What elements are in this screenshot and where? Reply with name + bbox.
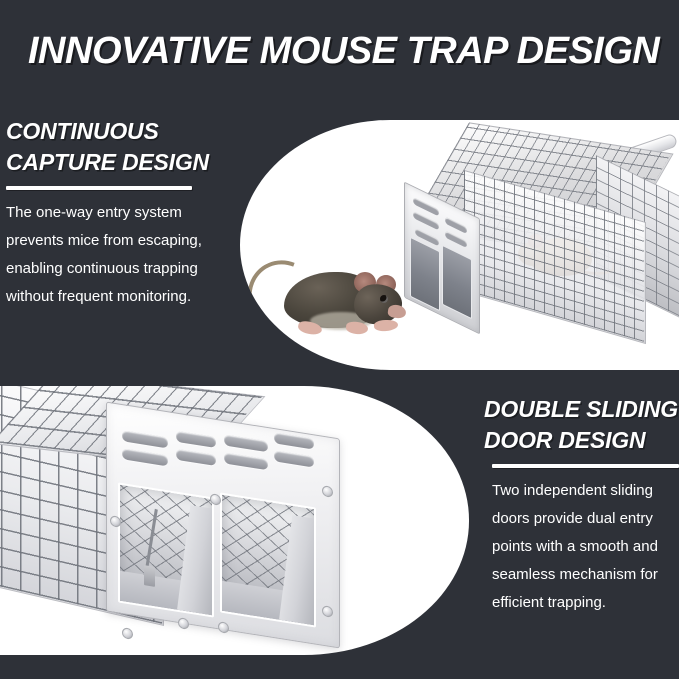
vent-slot-icon — [176, 449, 216, 466]
heading-line-1: CONTINUOUS — [6, 116, 238, 147]
mouse-eye — [380, 295, 388, 303]
trigger-tab — [144, 565, 155, 587]
cage-front-closeup-image — [0, 390, 412, 655]
heading-divider — [492, 464, 679, 468]
infographic-root: INNOVATIVE MOUSE TRAP DESIGN — [0, 0, 679, 679]
section-double-sliding-door: DOUBLE SLIDING DOOR DESIGN Two independe… — [484, 394, 679, 617]
section-body-text: The one-way entry system prevents mice f… — [6, 199, 238, 311]
vent-slot-icon — [274, 450, 314, 467]
vent-slot-icon — [176, 431, 216, 448]
vent-slot-icon — [224, 452, 268, 470]
product-photo-panel-top — [240, 120, 679, 370]
sliding-door-opening-right — [220, 492, 316, 627]
heading-line-2: CAPTURE DESIGN — [6, 147, 238, 178]
product-photo-panel-bottom — [0, 386, 469, 655]
heading-line-1: DOUBLE SLIDING — [484, 394, 679, 425]
section-body-text: Two independent sliding doors provide du… — [484, 477, 679, 617]
heading-divider — [6, 186, 192, 190]
vent-slot-icon — [445, 230, 467, 248]
vent-slot-icon — [122, 430, 168, 448]
section-continuous-capture: CONTINUOUS CAPTURE DESIGN The one-way en… — [6, 116, 238, 311]
page-title: INNOVATIVE MOUSE TRAP DESIGN — [28, 30, 659, 73]
heading-line-2: DOOR DESIGN — [484, 425, 679, 456]
dark-mouse-image — [250, 250, 410, 355]
section-heading: CONTINUOUS CAPTURE DESIGN — [6, 116, 238, 178]
vent-slot-icon — [122, 448, 168, 466]
sliding-door-opening-left — [118, 482, 214, 617]
cage-trap-image — [390, 138, 679, 358]
section-heading: DOUBLE SLIDING DOOR DESIGN — [484, 394, 679, 456]
rivet-icon — [122, 627, 133, 640]
title-bar: INNOVATIVE MOUSE TRAP DESIGN — [0, 0, 679, 112]
